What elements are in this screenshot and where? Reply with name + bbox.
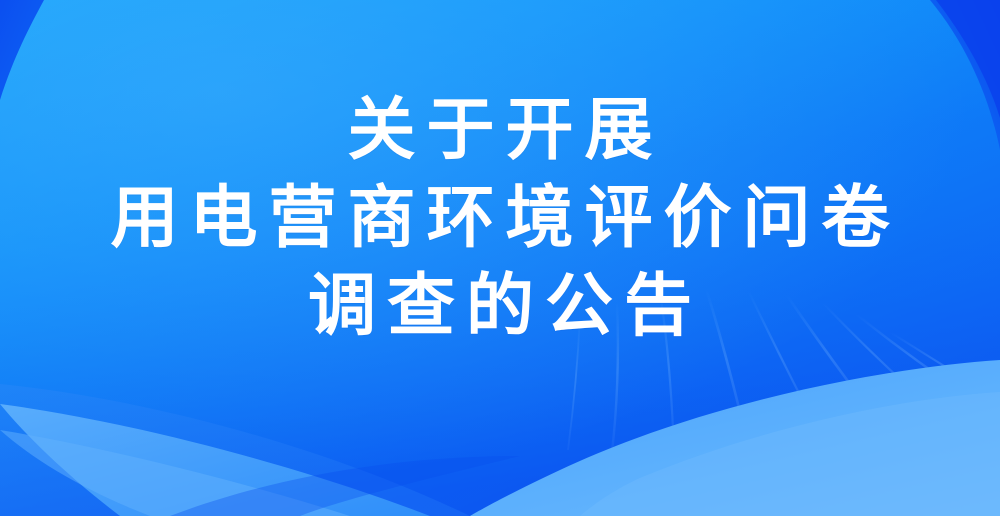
announcement-banner: 关于开展 用电营商环境评价问卷 调查的公告: [0, 0, 1000, 516]
background-graphic: [0, 0, 1000, 516]
